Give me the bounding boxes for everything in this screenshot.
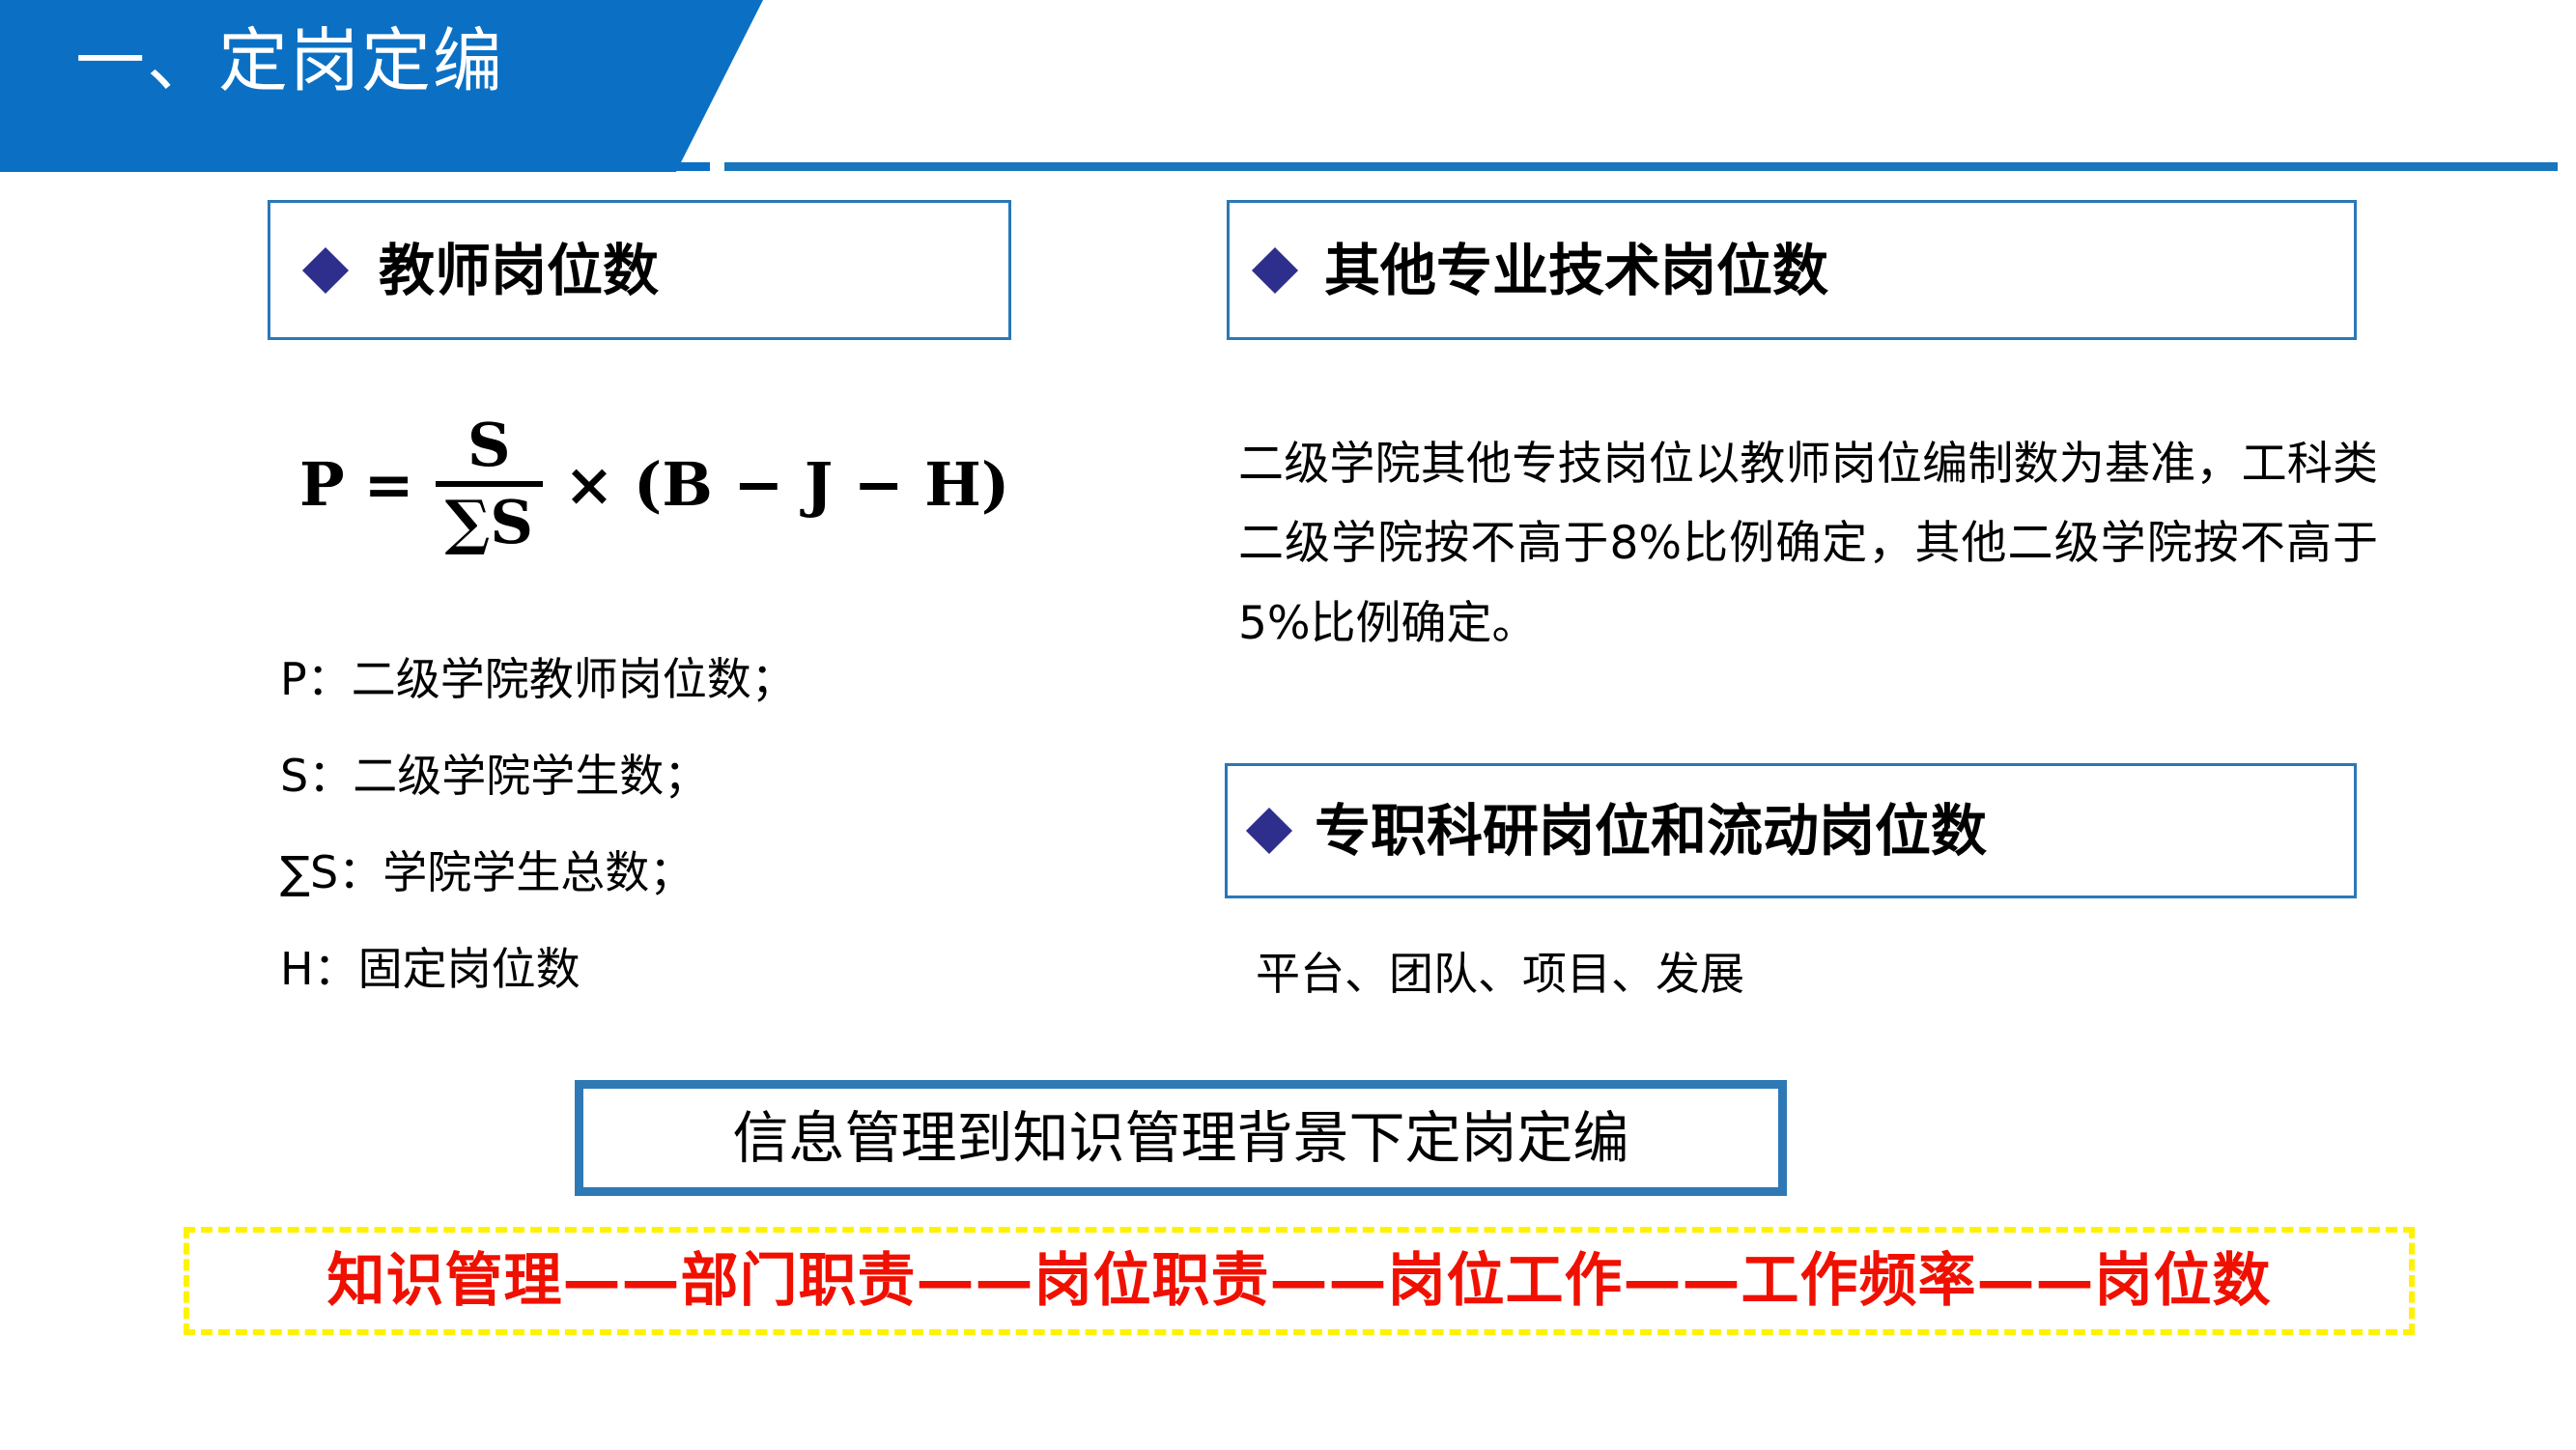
formula-times-operator: × — [564, 449, 614, 520]
callout-box-label: 信息管理到知识管理背景下定岗定编 — [732, 1110, 1628, 1166]
formula-lhs: P — [299, 449, 345, 520]
teacher-post-formula: P = S ∑S × (B − J − H) — [290, 415, 1019, 553]
heading-box-research-and-floating-posts: 专职科研岗位和流动岗位数 — [1225, 763, 2357, 898]
heading-box-research-and-floating-posts-label: 专职科研岗位和流动岗位数 — [1315, 803, 1987, 859]
callout-box-knowledge-management: 信息管理到知识管理背景下定岗定编 — [575, 1080, 1787, 1196]
header-rule-right — [724, 162, 2558, 171]
slide-canvas: 一、定岗定编 教师岗位数 其他专业技术岗位数 P = S ∑S × (B − J… — [0, 0, 2576, 1450]
heading-box-other-technical-posts-label: 其他专业技术岗位数 — [1324, 242, 1828, 299]
legend-item: P：二级学院教师岗位数； — [280, 657, 1014, 701]
diamond-bullet-icon — [302, 246, 349, 293]
diamond-bullet-icon — [1246, 808, 1292, 854]
heading-box-teacher-posts: 教师岗位数 — [268, 200, 1011, 340]
formula-numerator: S — [458, 415, 521, 481]
legend-item: H：固定岗位数 — [280, 947, 1014, 991]
other-technical-posts-paragraph: 二级学院其他专技岗位以教师岗位编制数为基准，工科类二级学院按不高于8%比例确定，… — [1238, 425, 2378, 664]
heading-box-teacher-posts-label: 教师岗位数 — [379, 242, 659, 299]
formula-rhs: (B − J − H) — [634, 449, 1009, 520]
process-chain-box: 知识管理——部门职责——岗位职责——岗位工作——工作频率——岗位数 — [184, 1227, 2415, 1335]
header-rule-left — [0, 162, 710, 171]
legend-item: S：二级学院学生数； — [280, 753, 1014, 798]
formula-legend-list: P：二级学院教师岗位数； S：二级学院学生数； ∑S：学院学生总数； H：固定岗… — [280, 657, 1014, 1043]
formula-equals: = — [364, 449, 414, 520]
diamond-bullet-icon — [1252, 246, 1298, 293]
page-title: 一、定岗定编 — [75, 23, 504, 100]
formula-denominator: ∑S — [436, 487, 543, 553]
legend-item: ∑S：学院学生总数； — [280, 850, 1014, 895]
formula-fraction: S ∑S — [436, 415, 543, 553]
process-chain-label: 知识管理——部门职责——岗位职责——岗位工作——工作频率——岗位数 — [327, 1252, 2272, 1310]
heading-box-other-technical-posts: 其他专业技术岗位数 — [1227, 200, 2357, 340]
research-posts-keywords: 平台、团队、项目、发展 — [1256, 952, 1744, 996]
